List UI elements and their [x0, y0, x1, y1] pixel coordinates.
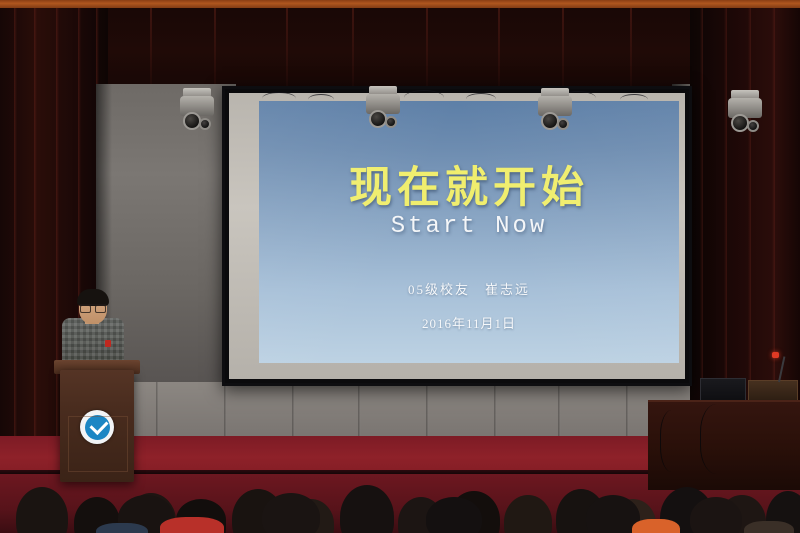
audience-jacket [96, 523, 148, 533]
audience-head [262, 493, 320, 533]
audience-head [16, 487, 68, 533]
stage-light-fixture [364, 86, 402, 132]
slide-title: 现在就开始 [259, 153, 679, 215]
slide-author: 05级校友 崔志远 [259, 279, 679, 298]
audience-head [426, 497, 482, 533]
ceiling-cable [620, 94, 648, 105]
stage-light-fixture [178, 88, 216, 134]
audience-jacket [160, 517, 224, 533]
stage-light-fixture [726, 90, 764, 136]
audience-head [340, 485, 394, 533]
audience-rows [0, 462, 800, 533]
auditorium-scene: 现在就开始 Start Now 05级校友 崔志远 2016年11月1日 [0, 0, 800, 533]
lapel-badge [105, 340, 111, 347]
stage-light-fixture [536, 88, 574, 134]
presentation-slide: 现在就开始 Start Now 05级校友 崔志远 2016年11月1日 [259, 101, 679, 363]
ceiling-cable [308, 94, 334, 105]
glasses-icon [80, 304, 106, 311]
projection-screen: 现在就开始 Start Now 05级校友 崔志远 2016年11月1日 [222, 86, 692, 386]
audience-jacket [632, 519, 680, 533]
slide-subtitle: Start Now [259, 213, 679, 240]
indicator-light-icon [772, 352, 779, 358]
audience-head [690, 497, 742, 533]
ceiling-cable [466, 93, 496, 105]
audience-jacket [744, 521, 794, 533]
ceiling-cable [262, 92, 296, 105]
slide-date: 2016年11月1日 [259, 313, 679, 332]
screen-mat: 现在就开始 Start Now 05级校友 崔志远 2016年11月1日 [229, 93, 685, 379]
ceiling-cable [404, 90, 444, 105]
audience-head [504, 495, 552, 533]
